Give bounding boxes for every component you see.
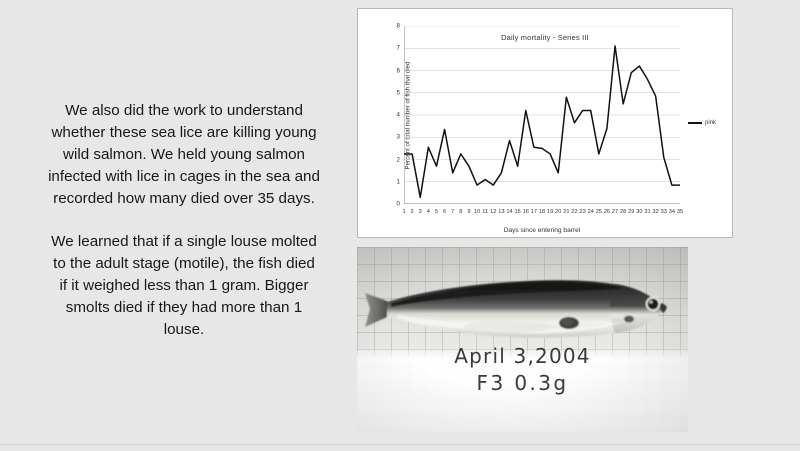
- chart-legend: pink: [688, 120, 716, 126]
- chart-x-tick-label: 19: [547, 209, 553, 215]
- caption-date: April 3,2004: [357, 343, 688, 370]
- slide-canvas: We also did the work to understand wheth…: [0, 0, 800, 451]
- chart-x-tick-label: 31: [644, 209, 650, 215]
- chart-x-tick-label: 8: [459, 209, 462, 215]
- chart-x-tick-label: 5: [435, 209, 438, 215]
- slide-bottom-divider: [0, 444, 800, 445]
- chart-x-tick-label: 25: [596, 209, 602, 215]
- chart-x-tick-label: 11: [482, 209, 488, 215]
- chart-y-tick-label: 4: [397, 112, 400, 119]
- chart-x-tick-label: 6: [443, 209, 446, 215]
- chart-svg: [404, 26, 680, 204]
- salmon-smolt-illustration: [357, 247, 688, 432]
- chart-x-tick-label: 23: [579, 209, 585, 215]
- chart-y-tick-label: 2: [397, 156, 400, 163]
- chart-x-tick-label: 14: [506, 209, 512, 215]
- chart-x-tick-label: 28: [620, 209, 626, 215]
- chart-x-tick-label: 32: [653, 209, 659, 215]
- chart-y-tick-label: 1: [397, 178, 400, 185]
- chart-x-tick-label: 20: [555, 209, 561, 215]
- photo-handwritten-caption: April 3,2004 F3 0.3g: [357, 343, 688, 397]
- chart-x-tick-label: 22: [571, 209, 577, 215]
- chart-x-tick-label: 16: [523, 209, 529, 215]
- body-paragraph-2: We learned that if a single louse molted…: [48, 231, 320, 340]
- chart-x-tick-label: 10: [474, 209, 480, 215]
- chart-y-tick-label: 7: [397, 45, 400, 52]
- chart-x-tick-label: 17: [531, 209, 537, 215]
- body-paragraph-1: We also did the work to understand wheth…: [48, 100, 320, 209]
- chart-x-tick-label: 15: [515, 209, 521, 215]
- chart-x-tick-label: 29: [628, 209, 634, 215]
- chart-x-tick-label: 9: [467, 209, 470, 215]
- mortality-chart-panel: Daily mortality - Series III Percent of …: [357, 8, 733, 238]
- chart-x-tick-label: 35: [677, 209, 683, 215]
- chart-x-tick-label: 1: [402, 209, 405, 215]
- chart-x-axis-title: Days since entering barrel: [404, 227, 680, 234]
- chart-x-tick-label: 18: [539, 209, 545, 215]
- body-text-block: We also did the work to understand wheth…: [48, 100, 320, 341]
- chart-x-tick-label: 26: [604, 209, 610, 215]
- chart-y-tick-label: 3: [397, 134, 400, 141]
- chart-x-tick-label: 24: [588, 209, 594, 215]
- chart-x-tick-label: 13: [498, 209, 504, 215]
- chart-x-tick-label: 3: [419, 209, 422, 215]
- chart-x-tick-label: 21: [563, 209, 569, 215]
- salmon-photo-panel: April 3,2004 F3 0.3g: [357, 247, 688, 432]
- chart-plot-area: Percent of total number of fish that die…: [404, 26, 680, 204]
- chart-x-tick-label: 27: [612, 209, 618, 215]
- chart-y-tick-label: 8: [397, 23, 400, 30]
- chart-x-tick-label: 33: [661, 209, 667, 215]
- chart-x-tick-label: 2: [411, 209, 414, 215]
- chart-x-tick-label: 30: [636, 209, 642, 215]
- legend-swatch-pink: [688, 122, 702, 124]
- chart-y-tick-label: 6: [397, 67, 400, 74]
- chart-series-line-pink: [404, 46, 680, 197]
- chart-y-tick-label: 5: [397, 89, 400, 96]
- chart-x-tick-label: 4: [427, 209, 430, 215]
- chart-x-tick-label: 7: [451, 209, 454, 215]
- caption-fish-id-weight: F3 0.3g: [357, 370, 688, 397]
- chart-inner: Daily mortality - Series III Percent of …: [358, 9, 732, 237]
- chart-y-tick-label: 0: [397, 201, 400, 208]
- legend-label-pink: pink: [705, 120, 716, 126]
- chart-x-tick-label: 12: [490, 209, 496, 215]
- chart-plot-frame: 0123456781234567891011121314151617181920…: [404, 26, 680, 204]
- chart-x-tick-label: 34: [669, 209, 675, 215]
